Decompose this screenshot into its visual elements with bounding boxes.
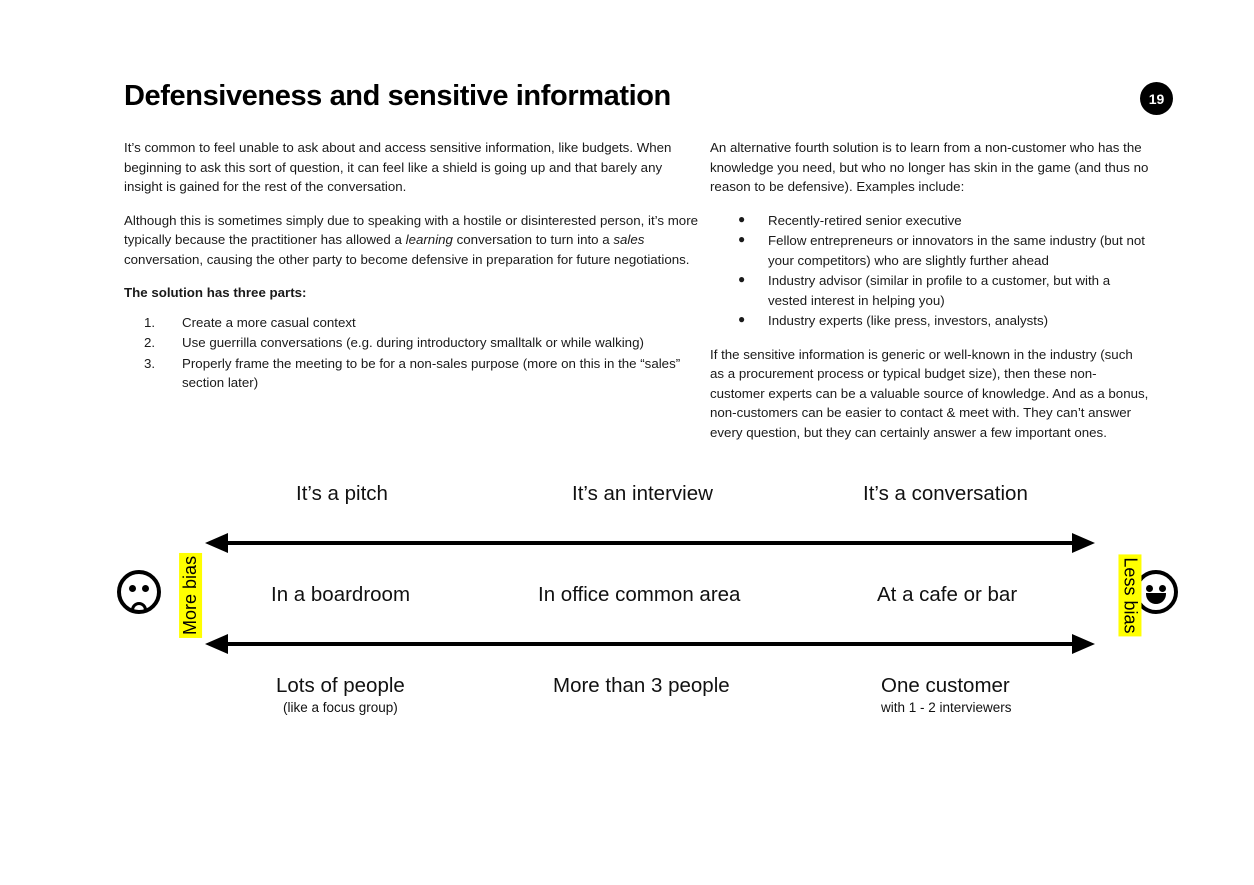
bullet-icon: ● bbox=[738, 210, 745, 230]
diagram-middle-label-1: In a boardroom bbox=[271, 583, 410, 607]
list-item: ● Recently-retired senior executive bbox=[710, 211, 1150, 231]
page-title: Defensiveness and sensitive information bbox=[124, 80, 671, 113]
list-item: ● Fellow entrepreneurs or innovators in … bbox=[710, 231, 1150, 270]
eye-right bbox=[1159, 585, 1166, 592]
diagram-middle-label-3: At a cafe or bar bbox=[877, 583, 1017, 607]
right-text-column: An alternative fourth solution is to lea… bbox=[710, 138, 1150, 442]
diagram-top-label-2: It’s an interview bbox=[572, 482, 713, 506]
frown-mouth bbox=[131, 602, 147, 611]
bullet-icon: ● bbox=[738, 310, 745, 330]
solution-list: 1. Create a more casual context 2. Use g… bbox=[124, 313, 699, 393]
list-item-label: Create a more casual context bbox=[182, 315, 356, 330]
diagram-bottom-sublabel-1: (like a focus group) bbox=[283, 700, 398, 715]
smile-mouth bbox=[1146, 593, 1166, 604]
bottom-arrow-head-left bbox=[205, 634, 228, 654]
frowning-face-icon bbox=[117, 570, 161, 614]
list-item-label: Industry experts (like press, investors,… bbox=[768, 313, 1048, 328]
spectrum-arrows bbox=[0, 0, 1254, 885]
bottom-arrow-head-right bbox=[1072, 634, 1095, 654]
list-item-number: 2. bbox=[144, 333, 155, 353]
list-item: 3. Properly frame the meeting to be for … bbox=[124, 354, 699, 393]
diagram-top-label-1: It’s a pitch bbox=[296, 482, 388, 506]
less-bias-label: Less bias bbox=[1119, 554, 1142, 636]
list-item-label: Fellow entrepreneurs or innovators in th… bbox=[768, 233, 1145, 268]
diagram-bottom-label-3: One customer bbox=[881, 674, 1010, 698]
bias-spectrum-diagram: More bias Less bias It’s a pitch It’s an… bbox=[0, 0, 1254, 885]
list-item-label: Properly frame the meeting to be for a n… bbox=[182, 356, 680, 391]
list-item: 2. Use guerrilla conversations (e.g. dur… bbox=[124, 333, 699, 353]
top-arrow-head-right bbox=[1072, 533, 1095, 553]
diagram-bottom-label-2: More than 3 people bbox=[553, 674, 730, 698]
solution-heading: The solution has three parts: bbox=[124, 283, 699, 303]
diagram-middle-label-2: In office common area bbox=[538, 583, 740, 607]
list-item-number: 1. bbox=[144, 313, 155, 333]
left-paragraph-2: Although this is sometimes simply due to… bbox=[124, 211, 699, 270]
list-item: 1. Create a more casual context bbox=[124, 313, 699, 333]
emphasis-learning: learning bbox=[406, 232, 453, 247]
list-item-label: Industry advisor (similar in profile to … bbox=[768, 273, 1110, 308]
bullet-icon: ● bbox=[738, 230, 745, 250]
list-item: ● Industry experts (like press, investor… bbox=[710, 311, 1150, 331]
page-number-badge: 19 bbox=[1140, 82, 1173, 115]
bullet-icon: ● bbox=[738, 270, 745, 290]
right-paragraph-1: An alternative fourth solution is to lea… bbox=[710, 138, 1150, 197]
list-item-number: 3. bbox=[144, 354, 155, 374]
left-text-column: It’s common to feel unable to ask about … bbox=[124, 138, 699, 394]
eye-left bbox=[1146, 585, 1153, 592]
non-customer-examples-list: ● Recently-retired senior executive ● Fe… bbox=[710, 211, 1150, 331]
left-paragraph-1: It’s common to feel unable to ask about … bbox=[124, 138, 699, 197]
diagram-top-label-3: It’s a conversation bbox=[863, 482, 1028, 506]
list-item-label: Use guerrilla conversations (e.g. during… bbox=[182, 335, 644, 350]
eye-right bbox=[142, 585, 149, 592]
emphasis-sales: sales bbox=[613, 232, 644, 247]
left-paragraph-2-part-c: conversation, causing the other party to… bbox=[124, 252, 689, 267]
right-paragraph-2: If the sensitive information is generic … bbox=[710, 345, 1150, 443]
list-item: ● Industry advisor (similar in profile t… bbox=[710, 271, 1150, 310]
top-arrow-head-left bbox=[205, 533, 228, 553]
list-item-label: Recently-retired senior executive bbox=[768, 213, 962, 228]
left-paragraph-2-part-b: conversation to turn into a bbox=[453, 232, 613, 247]
more-bias-label: More bias bbox=[179, 553, 202, 638]
smiling-face-icon bbox=[1134, 570, 1178, 614]
diagram-bottom-label-1: Lots of people bbox=[276, 674, 405, 698]
diagram-bottom-sublabel-3: with 1 - 2 interviewers bbox=[881, 700, 1012, 715]
eye-left bbox=[129, 585, 136, 592]
